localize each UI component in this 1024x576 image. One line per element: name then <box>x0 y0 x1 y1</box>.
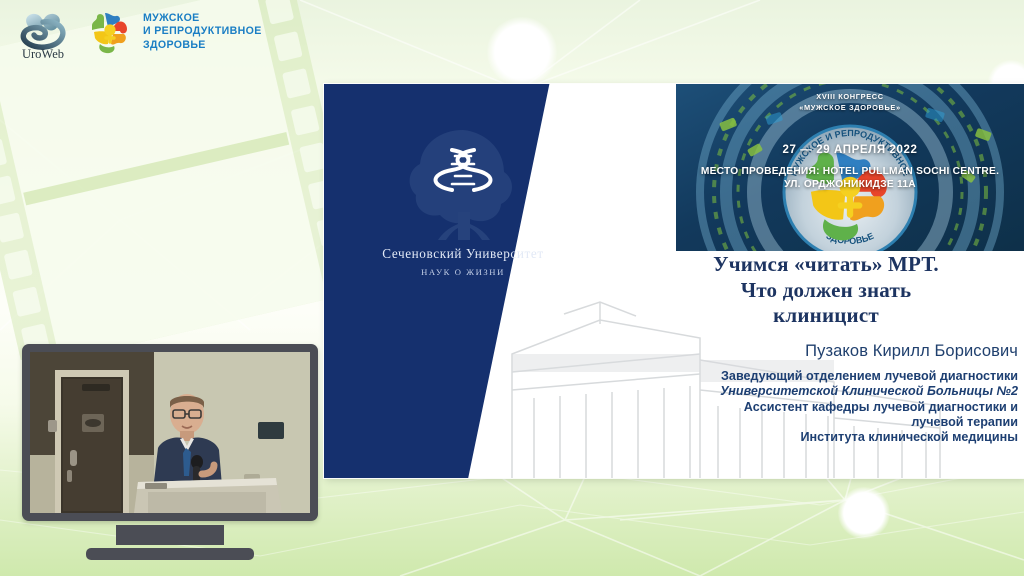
speaker-camera-feed[interactable] <box>30 352 310 513</box>
puzzle-people-icon <box>86 8 134 56</box>
background-glow-dot <box>487 17 557 87</box>
affiliation-line-1: Заведующий отделением лучевой диагностик… <box>640 369 1018 384</box>
slide-title-line3: клиницист <box>640 303 1012 329</box>
university-name: Сеченовский Университет <box>368 246 558 262</box>
presentation-slide[interactable]: Сеченовский Университет НАУК О ЖИЗНИ <box>324 84 1024 478</box>
congress-brand-text: МУЖСКОЕ И РЕПРОДУКТИВНОЕ ЗДОРОВЬЕ <box>143 12 262 52</box>
slide-title-line1: Учимся «читать» МРТ. <box>640 252 1012 278</box>
affiliation-line-2: Университетской Клинической Больницы №2 <box>640 384 1018 399</box>
broadcast-stage: UroWeb МУЖСКОЕ И РЕПРОДУКТИВНОЕ ЗДОРОВЬЕ <box>0 0 1024 576</box>
uroweb-infinity-icon[interactable]: UroWeb <box>12 6 74 62</box>
speaker-monitor[interactable] <box>22 344 318 560</box>
congress-heading-line1: XVIII КОНГРЕСС <box>676 92 1024 103</box>
author-affiliation: Заведующий отделением лучевой диагностик… <box>640 369 1018 446</box>
congress-banner-heading: XVIII КОНГРЕСС «МУЖСКОЕ ЗДОРОВЬЕ» <box>676 92 1024 113</box>
uroweb-logo-text: UroWeb <box>22 47 64 61</box>
sechenov-university-logo: Сеченовский Университет НАУК О ЖИЗНИ <box>368 124 558 277</box>
affiliation-line-4: лучевой терапии <box>640 415 1018 430</box>
slide-author-block: Пузаков Кирилл Борисович Заведующий отде… <box>640 342 1018 446</box>
congress-venue-line2: УЛ. ОРДЖОНИКИДЗЕ 11А <box>676 179 1024 192</box>
author-name: Пузаков Кирилл Борисович <box>640 342 1018 361</box>
congress-venue: МЕСТО ПРОВЕДЕНИЯ: HOTEL PULLMAN SOCHI CE… <box>676 166 1024 192</box>
congress-dates: 27 — 29 АПРЕЛЯ 2022 <box>676 144 1024 156</box>
slide-title-line2: Что должен знать <box>640 278 1012 304</box>
affiliation-line-3: Ассистент кафедры лучевой диагностики и <box>640 400 1018 415</box>
congress-venue-line1: МЕСТО ПРОВЕДЕНИЯ: HOTEL PULLMAN SOCHI CE… <box>676 166 1024 179</box>
university-tagline: НАУК О ЖИЗНИ <box>368 267 558 277</box>
slide-title: Учимся «читать» МРТ. Что должен знать кл… <box>640 252 1012 329</box>
tree-dna-icon <box>400 124 526 242</box>
congress-brand-logo[interactable]: МУЖСКОЕ И РЕПРОДУКТИВНОЕ ЗДОРОВЬЕ <box>86 8 262 56</box>
monitor-bezel <box>22 344 318 521</box>
affiliation-line-5: Института клинической медицины <box>640 430 1018 445</box>
monitor-stand-neck <box>116 525 224 545</box>
background-glow-dot <box>838 487 890 539</box>
congress-heading-line2: «МУЖСКОЕ ЗДОРОВЬЕ» <box>676 103 1024 114</box>
congress-banner: МУЖСКОЕ И РЕПРОДУКТИВНОЕ ЗДОРОВЬЕ <box>676 84 1024 251</box>
monitor-stand-base <box>86 548 254 560</box>
